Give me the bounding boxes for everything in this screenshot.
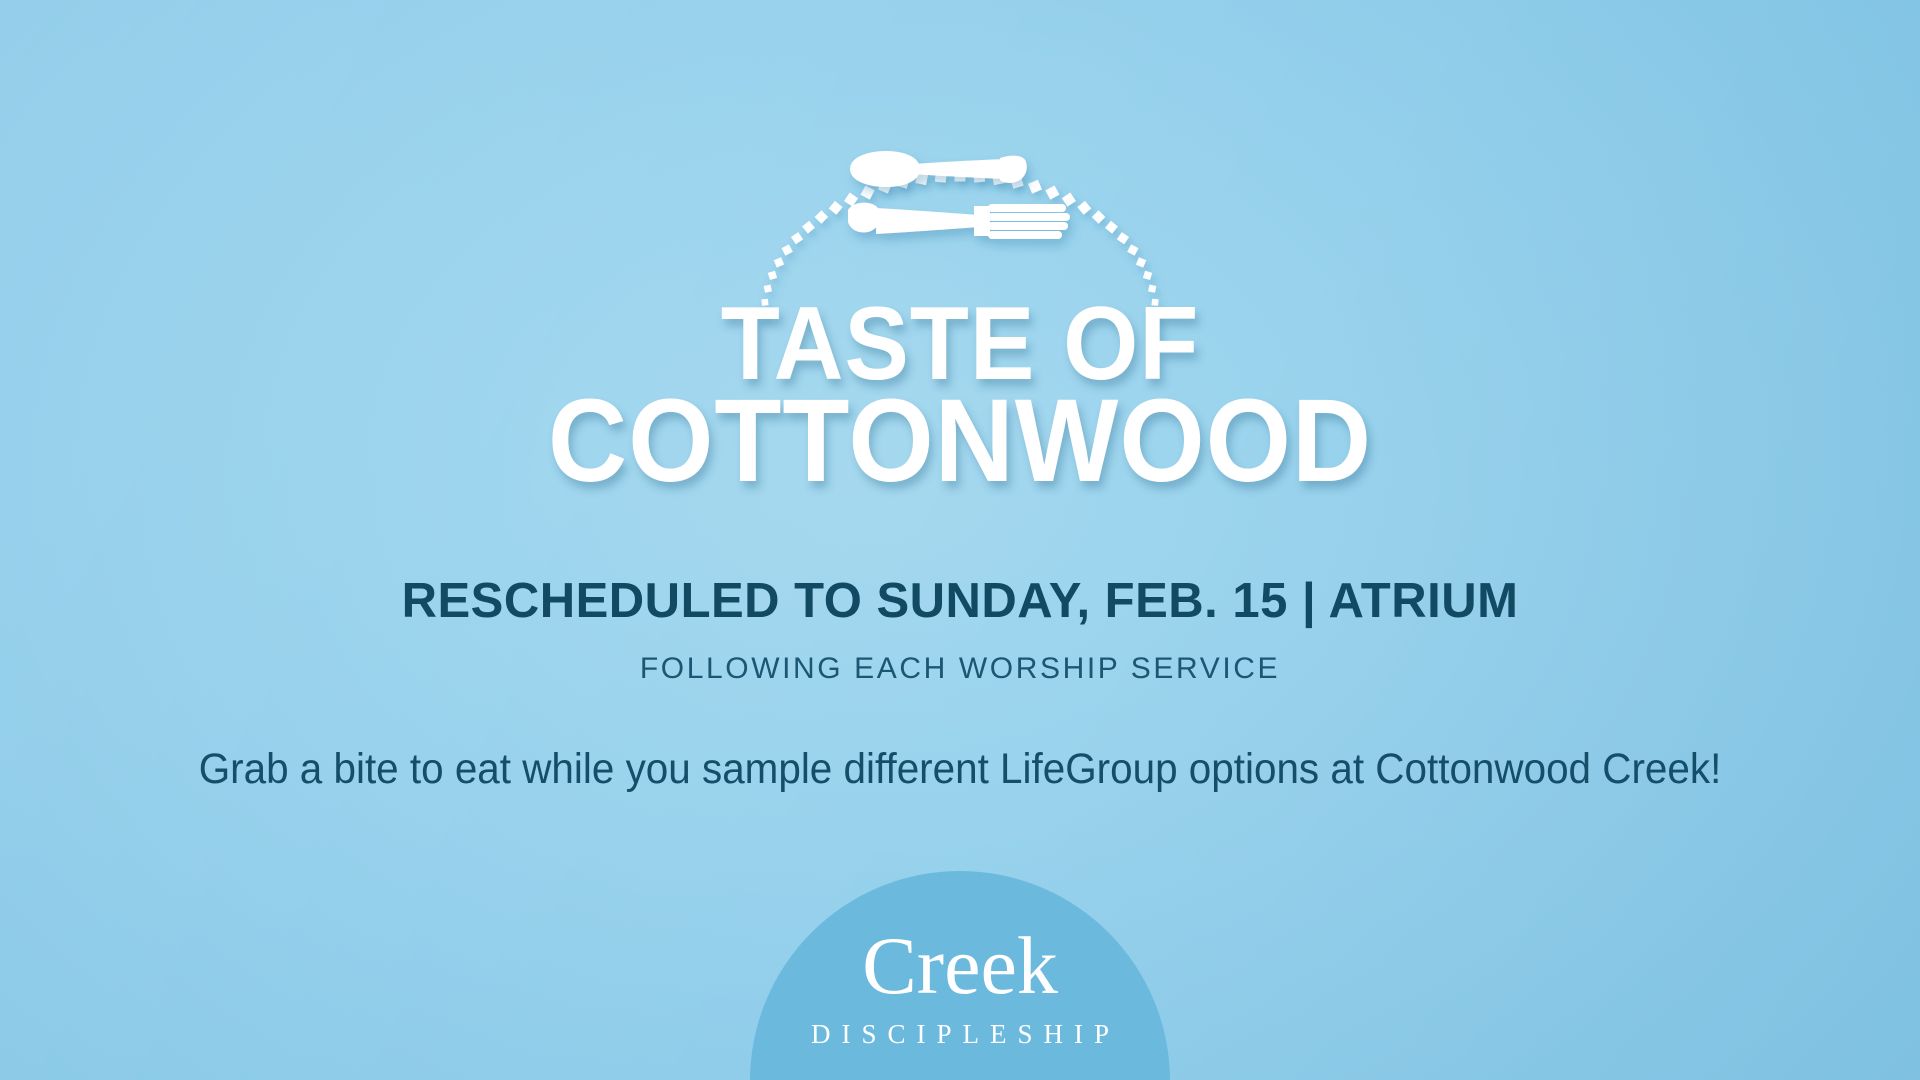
creek-discipleship-logo: Creek DISCIPLESHIP [700, 925, 1220, 1050]
page-title: TASTE OF COTTONWOOD [0, 296, 1920, 496]
promo-poster: TASTE OF COTTONWOOD RESCHEDULED TO SUNDA… [0, 0, 1920, 1080]
event-subline: FOLLOWING EACH WORSHIP SERVICE [0, 652, 1920, 686]
utensils-group [840, 148, 1080, 258]
event-description: Grab a bite to eat while you sample diff… [58, 745, 1863, 794]
logo-subtitle: DISCIPLESHIP [700, 1019, 1220, 1050]
logo-wordmark: Creek [700, 925, 1220, 1007]
spoon-icon [850, 151, 1027, 187]
headline-line-2: COTTONWOOD [67, 387, 1853, 497]
fork-icon [848, 203, 1070, 239]
event-dateline: RESCHEDULED TO SUNDAY, FEB. 15 | ATRIUM [0, 573, 1920, 629]
